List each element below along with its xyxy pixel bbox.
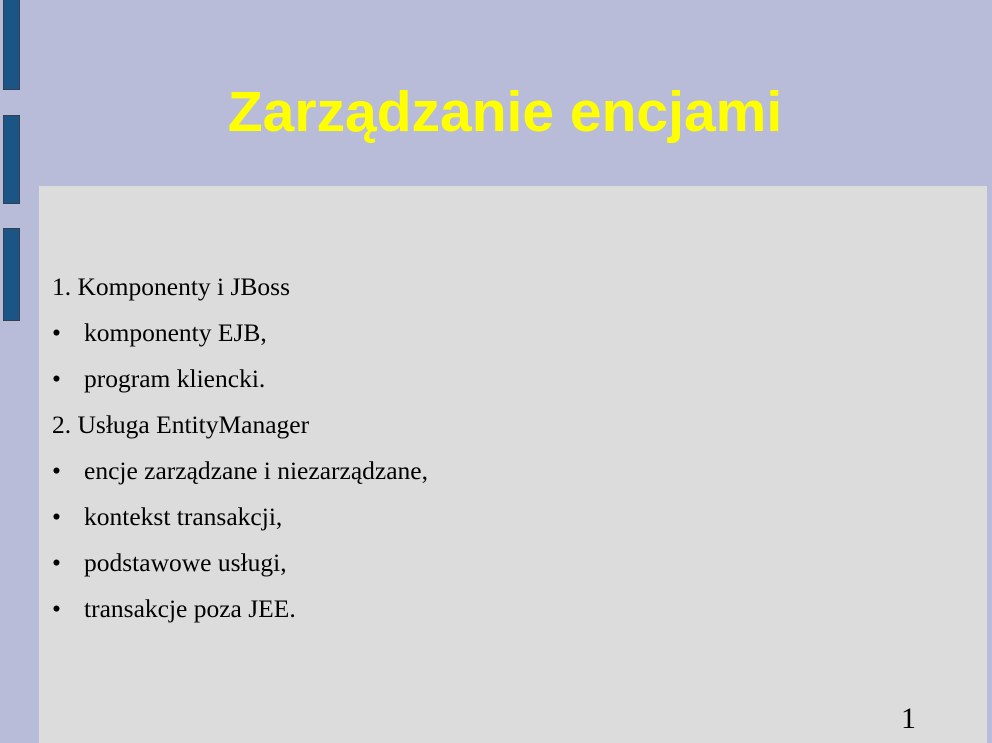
body-bullet-item: •transakcje poza JEE. [52,586,952,632]
body-line-text: komponenty EJB, [84,318,267,347]
page-number: 1 [901,702,916,736]
body-bullet-item: •program kliencki. [52,356,952,402]
accent-bar-3 [3,228,20,321]
bullet-icon: • [52,310,61,356]
body-bullet-item: •encje zarządzane i niezarządzane, [52,448,952,494]
body-line-text: 1. Komponenty i JBoss [52,272,290,301]
bullet-icon: • [52,494,61,540]
body-line-text: podstawowe usługi, [84,548,287,577]
body-line-text: transakcje poza JEE. [84,594,296,623]
accent-bar-1 [3,0,20,90]
slide-title: Zarządzanie encjami [0,78,992,146]
body-line-text: kontekst transakcji, [84,502,282,531]
slide-body-list: 1. Komponenty i JBoss•komponenty EJB,•pr… [52,264,952,632]
body-bullet-item: •podstawowe usługi, [52,540,952,586]
bullet-icon: • [52,448,61,494]
presentation-slide: Zarządzanie encjami 1. Komponenty i JBos… [0,0,992,743]
slide-content-panel: 1. Komponenty i JBoss•komponenty EJB,•pr… [39,186,987,743]
bullet-icon: • [52,586,61,632]
body-line-text: 2. Usługa EntityManager [52,410,309,439]
body-line-text: program kliencki. [84,364,265,393]
body-bullet-item: •komponenty EJB, [52,310,952,356]
body-heading-item: 1. Komponenty i JBoss [52,264,952,310]
bullet-icon: • [52,540,61,586]
body-line-text: encje zarządzane i niezarządzane, [84,456,428,485]
bullet-icon: • [52,356,61,402]
body-bullet-item: •kontekst transakcji, [52,494,952,540]
body-heading-item: 2. Usługa EntityManager [52,402,952,448]
